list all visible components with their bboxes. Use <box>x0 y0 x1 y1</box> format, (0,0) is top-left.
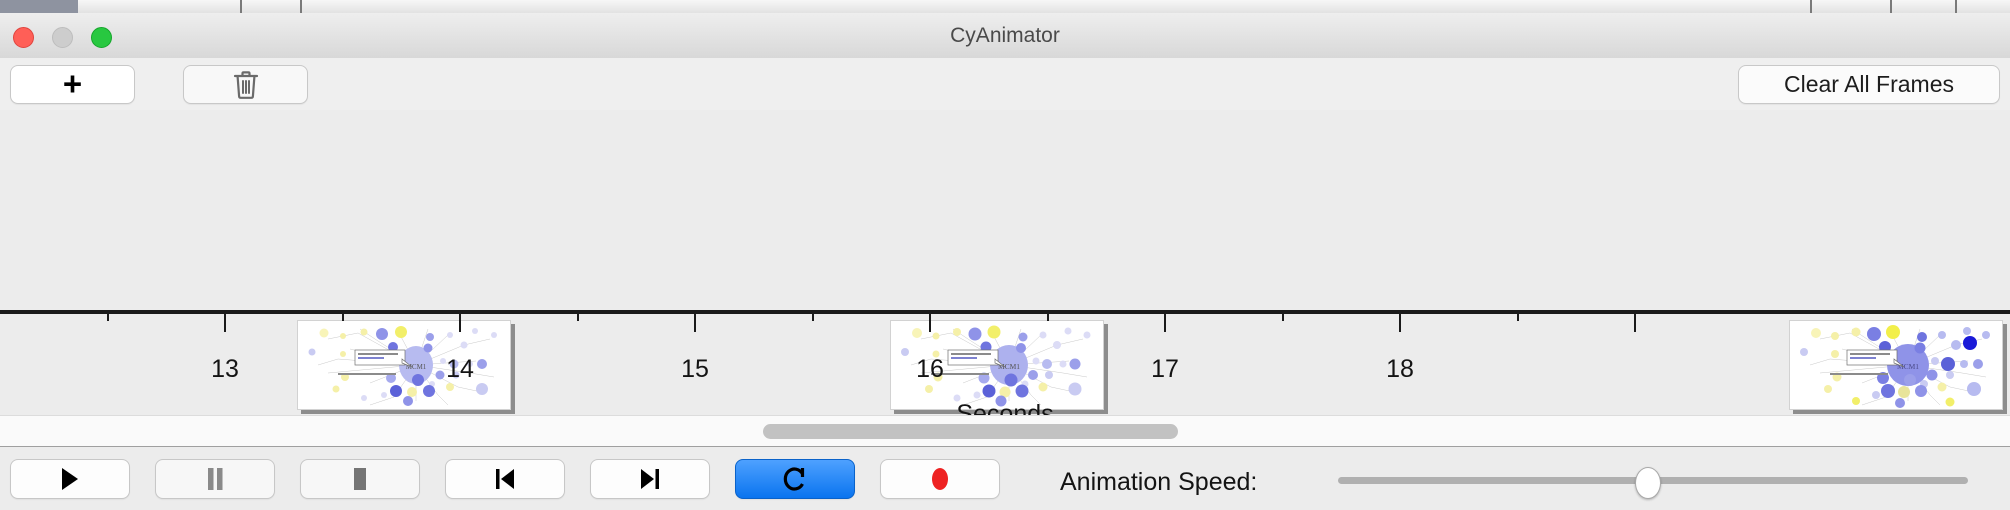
tick-major-19 <box>1634 310 1636 332</box>
tick-major-14 <box>459 310 461 332</box>
tick-label-15: 15 <box>645 355 745 384</box>
loop-icon <box>782 465 808 493</box>
tick-minor-15.5 <box>812 310 814 321</box>
timeline-scrollbar[interactable] <box>0 415 2010 447</box>
skip-forward-icon <box>637 466 663 492</box>
background-seg-6 <box>910 0 986 13</box>
tick-label-18: 18 <box>1350 355 1450 384</box>
background-seg-1 <box>78 0 169 13</box>
animation-speed-slider-knob[interactable] <box>1635 467 1661 499</box>
tick-major-16 <box>929 310 931 332</box>
skip-back-icon <box>492 466 518 492</box>
animation-speed-label: Animation Speed: <box>1060 468 1257 497</box>
svg-text:MCM1: MCM1 <box>998 362 1020 371</box>
skip-to-end-button[interactable] <box>590 459 710 499</box>
tick-minor-17.5 <box>1282 310 1284 321</box>
axis-title: Seconds <box>0 400 2010 415</box>
pause-button[interactable] <box>155 459 275 499</box>
play-icon <box>59 466 81 492</box>
stop-icon <box>349 466 371 492</box>
background-seg-2 <box>168 0 241 13</box>
record-icon <box>927 465 953 493</box>
tick-label-17: 17 <box>1115 355 1215 384</box>
background-window-strip: Shape <box>0 0 2010 13</box>
tick-minor-12.5 <box>107 310 109 321</box>
toolbar: + Clear All Frames <box>0 58 2010 111</box>
tick-major-13 <box>224 310 226 332</box>
tick-major-17 <box>1164 310 1166 332</box>
playback-control-bar: Animation Speed: <box>0 448 2010 510</box>
window-title: CyAnimator <box>0 13 2010 58</box>
play-button[interactable] <box>10 459 130 499</box>
background-tick-3 <box>1810 0 1812 13</box>
stop-button[interactable] <box>300 459 420 499</box>
tick-major-18 <box>1399 310 1401 332</box>
tick-label-16: 16 <box>880 355 980 384</box>
background-tick-4 <box>1890 0 1892 13</box>
background-seg-4 <box>302 0 391 13</box>
timeline-panel[interactable]: MCM1 <box>0 110 2010 415</box>
background-seg-5 <box>390 0 911 13</box>
loop-button[interactable] <box>735 459 855 499</box>
clear-all-frames-label: Clear All Frames <box>1784 71 1954 98</box>
title-bar: CyAnimator <box>0 13 2010 59</box>
clear-all-frames-button[interactable]: Clear All Frames <box>1738 65 2000 104</box>
plus-icon: + <box>63 67 82 100</box>
tick-minor-16.5 <box>1047 310 1049 321</box>
scrollbar-thumb[interactable] <box>763 424 1178 439</box>
skip-to-start-button[interactable] <box>445 459 565 499</box>
background-tick-5 <box>1955 0 1957 13</box>
pause-icon <box>204 466 226 492</box>
background-window-sidebar <box>0 0 78 13</box>
trash-icon <box>233 70 259 100</box>
tick-label-13: 13 <box>175 355 275 384</box>
tick-minor-18.5 <box>1517 310 1519 321</box>
cyanimator-window: Shape CyAnimator + Clear All Frames <box>0 0 2010 510</box>
add-frame-button[interactable]: + <box>10 65 135 104</box>
delete-frame-button[interactable] <box>183 65 308 104</box>
timeline-ruler-line <box>0 310 2010 314</box>
frame-thumbnail: MCM1 <box>1789 320 2003 410</box>
tick-major-15 <box>694 310 696 332</box>
tick-label-12: 2 <box>0 355 40 384</box>
tick-label-14: 14 <box>410 355 510 384</box>
network-graph-thumbnail: MCM1 <box>1790 321 2002 409</box>
background-seg-7 <box>985 0 2010 13</box>
tick-minor-14.5 <box>577 310 579 321</box>
svg-text:MCM1: MCM1 <box>1897 362 1919 371</box>
tick-minor-13.5 <box>342 310 344 321</box>
record-button[interactable] <box>880 459 1000 499</box>
background-seg-3 <box>242 0 301 13</box>
